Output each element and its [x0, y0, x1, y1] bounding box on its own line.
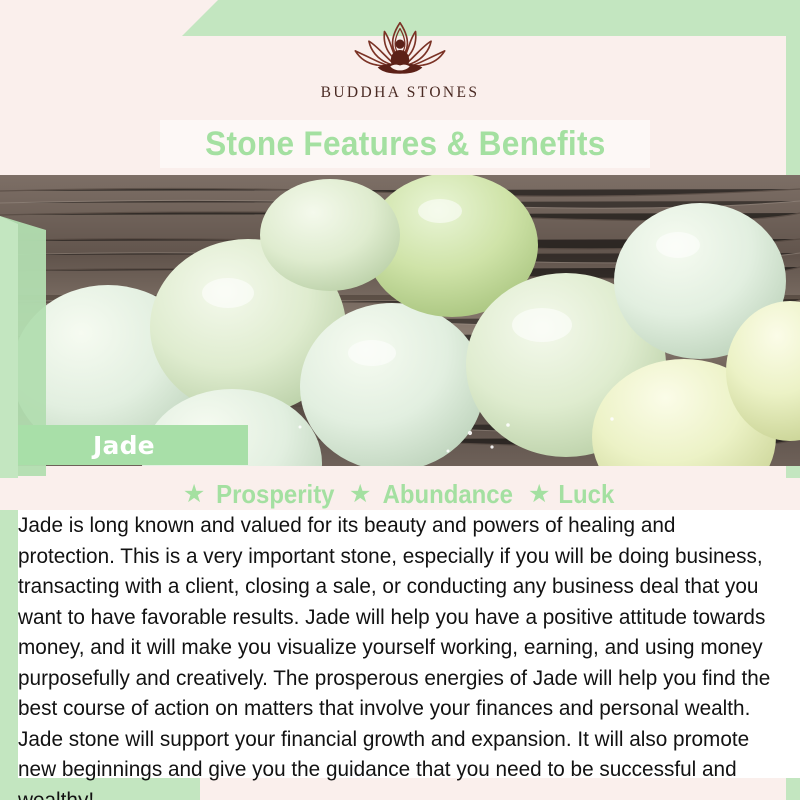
stone-photo-illustration — [0, 175, 800, 466]
benefit-label: Luck — [559, 479, 615, 510]
benefit-label: Prosperity — [216, 479, 334, 510]
star-icon: ★ — [349, 482, 371, 507]
benefit-item-abundance: ★ Abundance — [349, 479, 519, 510]
star-icon: ★ — [528, 482, 550, 507]
page-title: Stone Features & Benefits — [205, 125, 606, 164]
benefit-item-luck: ★ Luck — [528, 479, 617, 510]
stone-photo — [0, 175, 800, 466]
brand-logo: BUDDHA STONES — [0, 14, 800, 114]
benefit-label: Abundance — [383, 479, 513, 510]
description-text: Jade is long known and valued for its be… — [18, 510, 776, 800]
stone-name-tag: Jade — [18, 425, 248, 465]
benefits-row: ★ Prosperity ★ Abundance ★ Luck — [0, 478, 800, 510]
brand-name: BUDDHA STONES — [321, 84, 480, 102]
benefit-item-prosperity: ★ Prosperity — [183, 479, 340, 510]
stone-info-card: BUDDHA STONES Stone Features & Benefits — [0, 0, 800, 800]
stone-name-label: Jade — [93, 431, 155, 460]
title-banner: Stone Features & Benefits — [160, 120, 650, 168]
star-icon: ★ — [183, 482, 205, 507]
lotus-meditation-icon — [341, 14, 459, 82]
